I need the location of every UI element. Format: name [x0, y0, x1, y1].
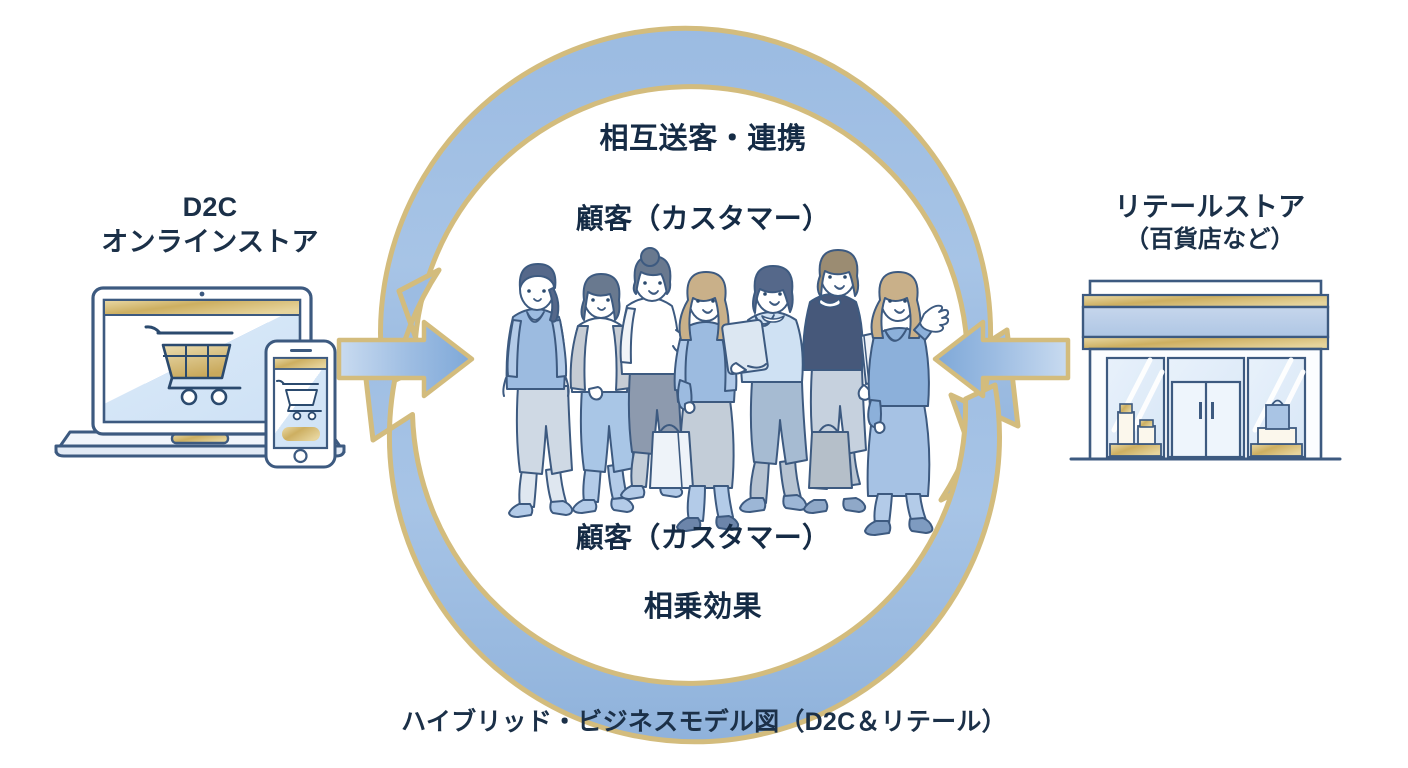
ring-label-customer-bottom: 顧客（カスタマー）: [0, 516, 1408, 556]
ring-label-synergy: 相乗効果: [0, 583, 1408, 625]
customer-figure-7: [865, 272, 948, 535]
customer-figure-2: [571, 274, 634, 513]
ring-label-customer-bottom-text: 顧客（カスタマー）: [576, 516, 831, 556]
customers-illustration: [503, 248, 948, 535]
ring-label-synergy-text: 相乗効果: [644, 583, 762, 625]
ring-label-mutual-referral: 相互送客・連携: [0, 115, 1408, 157]
ring-label-customer-top-text: 顧客（カスタマー）: [576, 197, 831, 237]
ring-label-mutual-referral-text: 相互送客・連携: [599, 115, 806, 157]
diagram-canvas: D2C オンラインストア リテールストア （百貨店など） 相互送客・連携 顧客（…: [0, 0, 1408, 768]
diagram-caption: ハイブリッド・ビジネスモデル図（D2C＆リテール）: [0, 702, 1408, 738]
d2c-online-store-illustration: [56, 288, 344, 467]
ring-label-customer-top: 顧客（カスタマー）: [0, 197, 1408, 237]
customer-figure-1: [503, 264, 572, 517]
retail-store-illustration: [1071, 281, 1340, 459]
